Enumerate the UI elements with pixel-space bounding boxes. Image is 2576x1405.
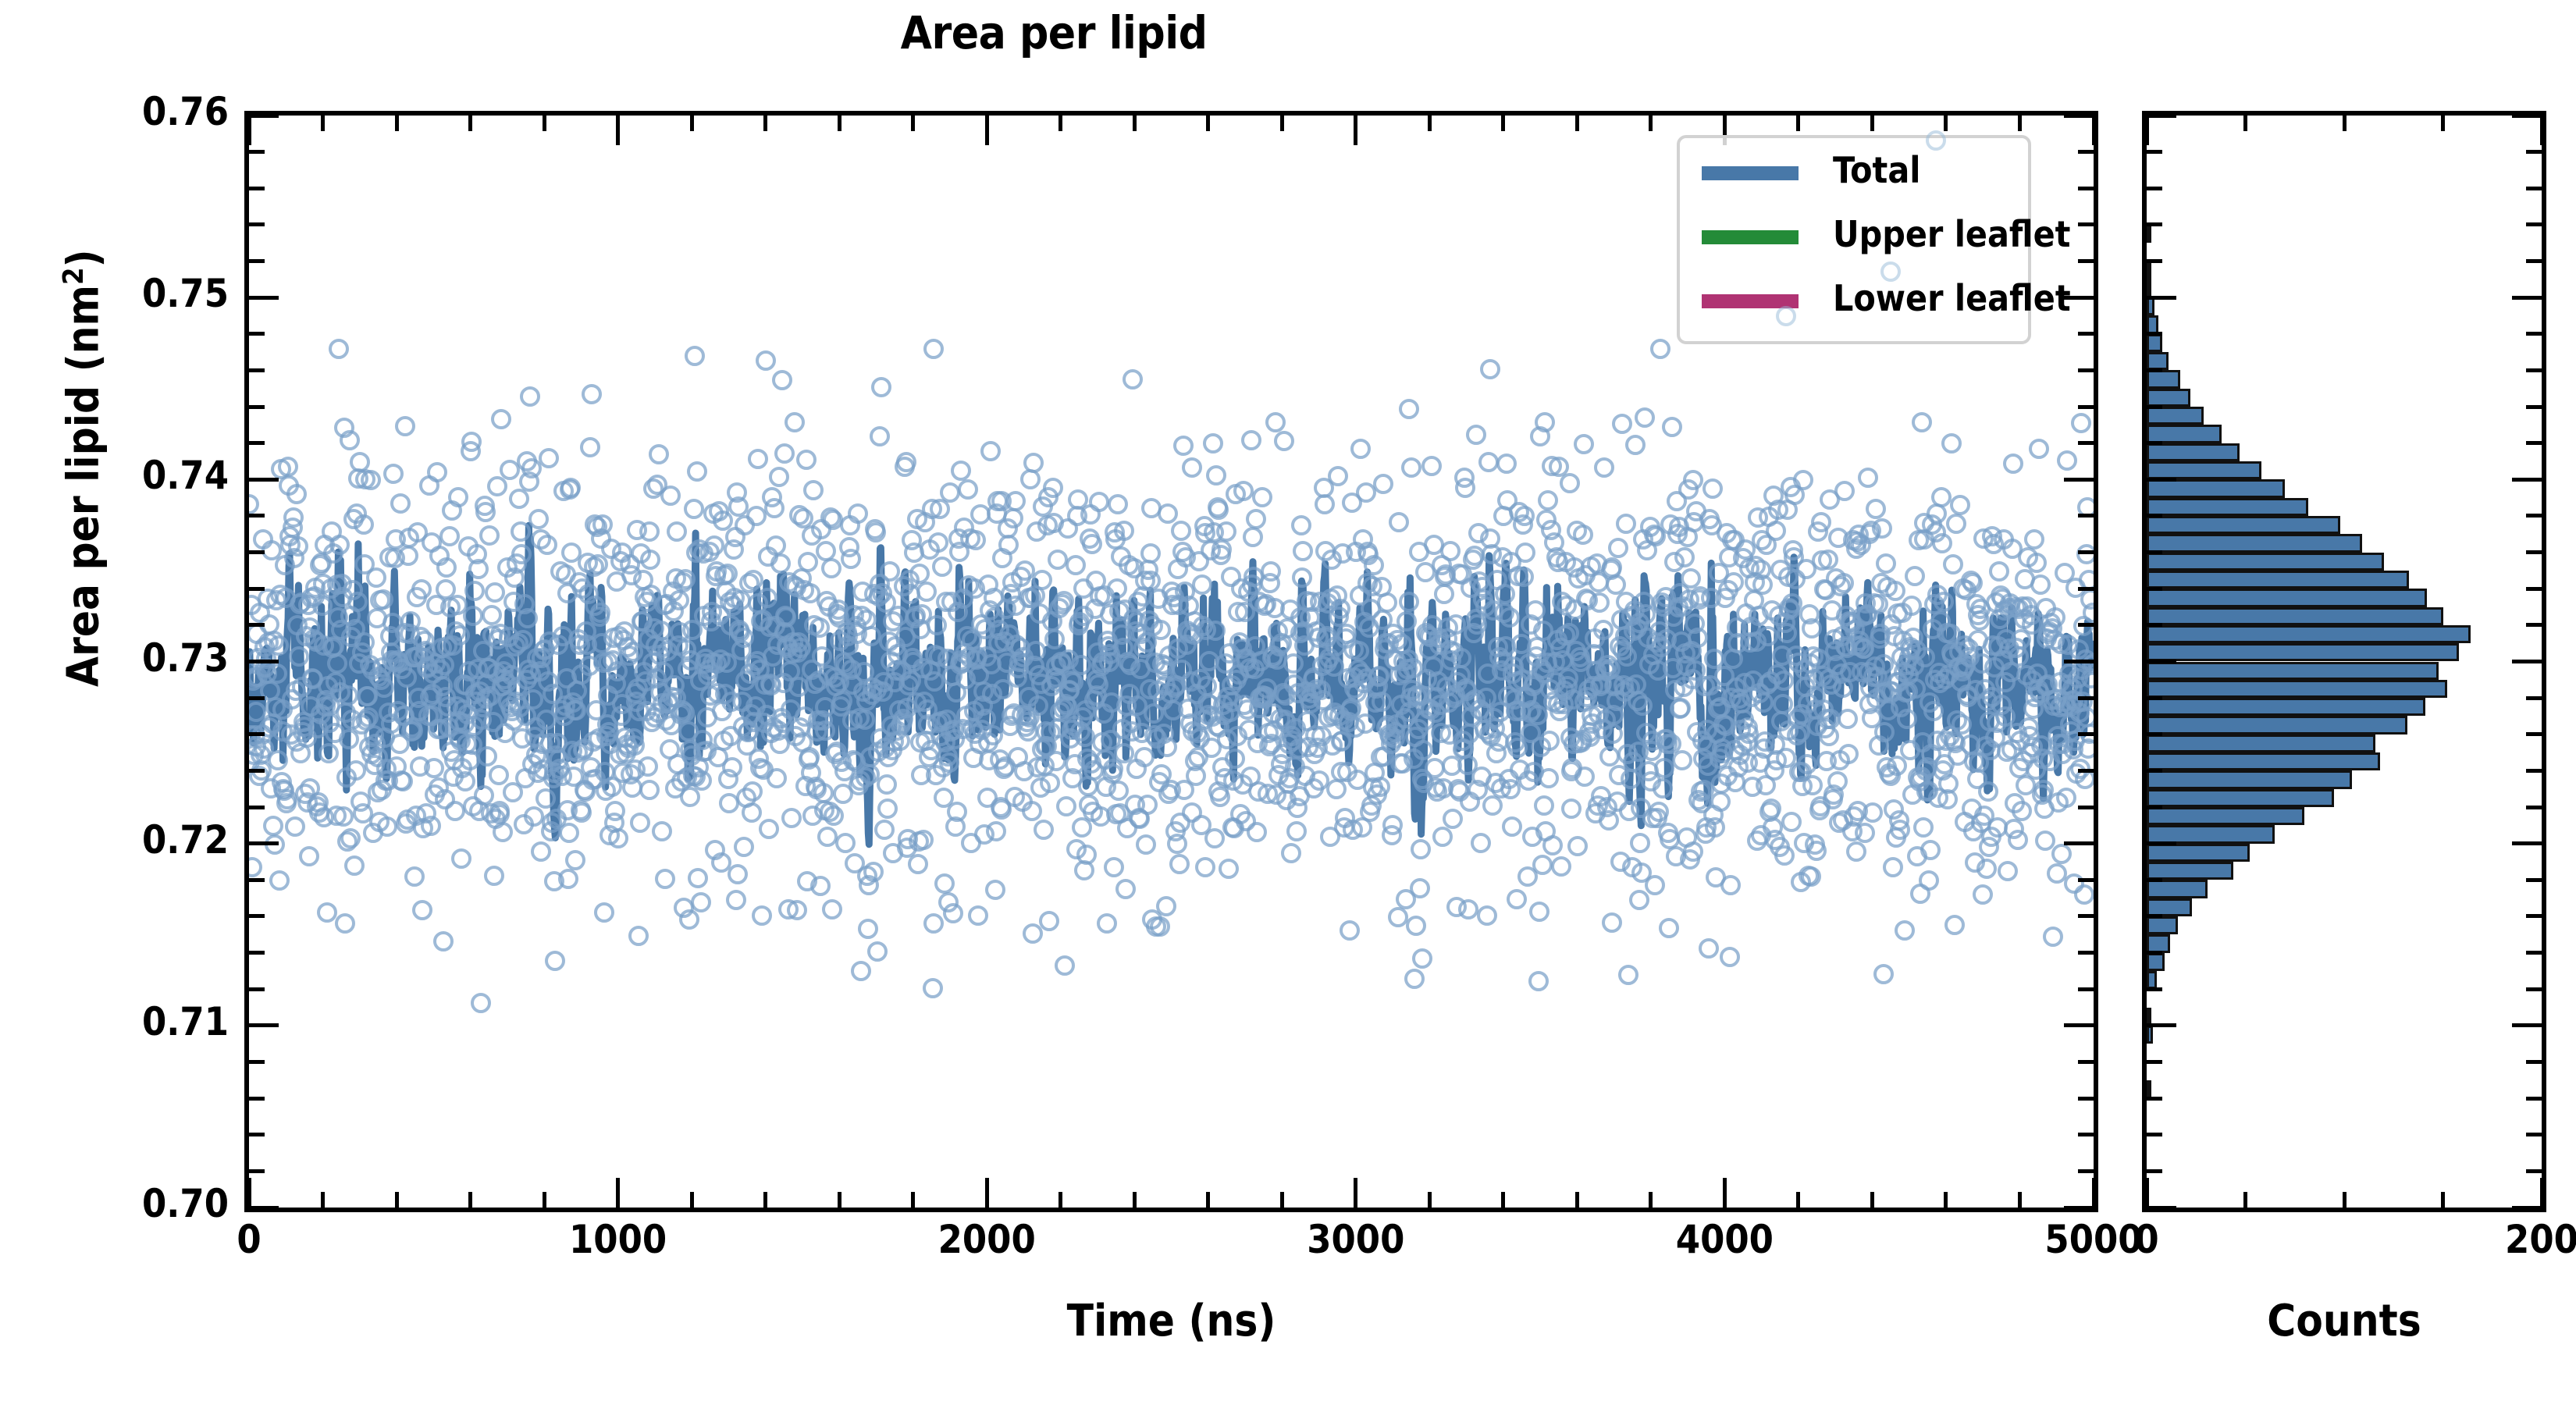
scatter-point (870, 426, 890, 446)
scatter-point (1989, 561, 2009, 582)
counts-major-tick (2145, 1178, 2149, 1208)
scatter-point (1369, 666, 1389, 686)
histogram-bar (2147, 225, 2151, 243)
scatter-point (1192, 574, 1212, 595)
hist-y-minor-tick (2147, 1169, 2162, 1173)
scatter-point (354, 514, 374, 535)
scatter-point (1355, 713, 1375, 734)
scatter-point (1866, 499, 1886, 519)
x-axis-tick-label: 2000 (885, 1217, 1088, 1262)
histogram-bar (2147, 752, 2380, 770)
y-minor-tick (249, 368, 265, 372)
scatter-point (427, 462, 447, 482)
scatter-point (1071, 655, 1091, 675)
hist-y-minor-tick-right (2526, 587, 2542, 591)
counts-axis-title: Counts (2142, 1296, 2546, 1346)
scatter-point (1802, 775, 1823, 795)
hist-y-major-tick (2147, 1206, 2176, 1210)
scatter-point (1003, 508, 1023, 528)
scatter-point (269, 635, 289, 656)
y-minor-tick (249, 951, 265, 955)
y-axis-title-main: Area per lipid (nm (59, 285, 109, 687)
scatter-point (927, 615, 947, 635)
scatter-point (424, 758, 444, 778)
scatter-point (1766, 521, 1786, 541)
y-axis-tick-label: 0.76 (10, 89, 229, 134)
scatter-point (565, 850, 585, 870)
y-minor-tick-right (2078, 259, 2094, 263)
scatter-point (1382, 815, 1403, 835)
x-minor-tick-top (1428, 116, 1432, 131)
y-minor-tick (249, 696, 265, 700)
x-major-tick-top (2092, 116, 2096, 145)
scatter-point (511, 521, 531, 542)
scatter-point (1107, 578, 1127, 599)
scatter-point (285, 816, 305, 837)
y-minor-tick-right (2078, 732, 2094, 736)
legend-item-upper-leaflet[interactable]: Upper leaflet (1702, 213, 2014, 260)
histogram-bar (2147, 770, 2352, 788)
y-major-tick-right (2064, 478, 2094, 482)
scatter-point (1688, 628, 1708, 648)
y-minor-tick (249, 769, 265, 773)
scatter-point (1946, 514, 1966, 534)
scatter-point (909, 564, 930, 584)
scatter-point (667, 521, 687, 542)
scatter-point (571, 802, 592, 823)
legend-swatch-total (1702, 166, 1799, 180)
scatter-point (393, 771, 413, 791)
scatter-point (528, 509, 549, 529)
scatter-point (968, 905, 988, 926)
scatter-point (1599, 746, 1620, 767)
scatter-point (1962, 573, 1983, 593)
legend-item-total[interactable]: Total (1702, 149, 2014, 196)
hist-y-minor-tick-right (2526, 441, 2542, 445)
hist-y-minor-tick (2147, 187, 2162, 190)
x-minor-tick-top (838, 116, 841, 131)
scatter-point (769, 467, 789, 487)
hist-y-minor-tick (2147, 732, 2162, 736)
scatter-point (812, 646, 832, 667)
scatter-point (1477, 905, 1497, 926)
scatter-point (374, 678, 394, 698)
scatter-point (1653, 778, 1673, 799)
y-major-tick (249, 1023, 279, 1027)
scatter-point (1291, 515, 1311, 535)
y-minor-tick-right (2078, 1133, 2094, 1136)
x-minor-tick (321, 1192, 325, 1208)
scatter-point (1247, 822, 1267, 842)
histogram-panel (2142, 111, 2546, 1212)
scatter-point (943, 903, 963, 923)
counts-minor-tick-top (2343, 116, 2347, 131)
scatter-point (1399, 399, 1419, 419)
x-minor-tick (1059, 1192, 1062, 1208)
hist-y-major-tick-right (2512, 296, 2542, 300)
y-minor-tick (249, 587, 265, 591)
legend-label-upper-leaflet: Upper leaflet (1833, 213, 2070, 255)
histogram-bar (2147, 461, 2261, 479)
hist-y-minor-tick (2147, 1097, 2162, 1101)
scatter-point (1710, 791, 1731, 812)
scatter-point (1421, 456, 1442, 476)
hist-y-minor-tick-right (2526, 1060, 2542, 1064)
scatter-point (958, 479, 978, 500)
x-minor-tick (1575, 1192, 1579, 1208)
scatter-point (1315, 494, 1335, 514)
scatter-point (1123, 369, 1143, 389)
histogram-bar (2147, 880, 2208, 898)
scatter-point (691, 892, 711, 912)
scatter-point (1724, 572, 1744, 592)
histogram-bar (2147, 953, 2165, 971)
scatter-point (1876, 553, 1896, 574)
scatter-point (734, 837, 754, 857)
scatter-point (1514, 506, 1535, 526)
hist-y-minor-tick (2147, 222, 2162, 226)
scatter-point (1629, 890, 1649, 910)
scatter-point (680, 787, 700, 807)
scatter-point (468, 559, 489, 579)
scatter-point (377, 816, 397, 837)
scatter-point (605, 801, 625, 821)
scatter-point (1560, 473, 1580, 493)
scatter-point (566, 700, 586, 720)
scatter-point (1608, 538, 1628, 558)
scatter-point (742, 781, 763, 802)
histogram-bar (2147, 297, 2154, 315)
scatter-point (757, 588, 777, 608)
scatter-point (269, 870, 290, 891)
scatter-point (450, 625, 470, 646)
scatter-point (1005, 491, 1026, 511)
y-major-tick-right (2064, 841, 2094, 845)
scatter-point (1919, 870, 1939, 891)
scatter-point (2008, 830, 2028, 850)
histogram-bar (2147, 315, 2158, 333)
y-minor-tick-right (2078, 623, 2094, 627)
histogram-bar (2147, 1080, 2151, 1098)
y-minor-tick-right (2078, 150, 2094, 154)
scatter-point (1703, 478, 1723, 499)
scatter-point (1246, 509, 1266, 529)
hist-y-minor-tick-right (2526, 550, 2542, 554)
y-minor-tick (249, 150, 265, 154)
scatter-point (1952, 714, 1972, 735)
x-minor-tick (1944, 1192, 1948, 1208)
scatter-point (1855, 823, 1875, 843)
x-minor-tick-top (1501, 116, 1505, 131)
scatter-point (1208, 500, 1229, 520)
histogram-bar (2147, 971, 2157, 989)
scatter-point (1776, 306, 1796, 326)
scatter-point (798, 552, 818, 572)
scatter-point (1654, 758, 1674, 778)
histogram-bar (2147, 1008, 2151, 1026)
scatter-point (1206, 465, 1226, 486)
y-minor-tick-right (2078, 1097, 2094, 1101)
y-major-tick-right (2064, 1023, 2094, 1027)
hist-y-major-tick (2147, 296, 2176, 300)
scatter-point (776, 607, 796, 628)
histogram-bar (2147, 607, 2443, 625)
y-major-tick (249, 1206, 279, 1210)
scatter-point (742, 802, 762, 823)
scatter-point (1923, 701, 1944, 721)
x-minor-tick-top (2018, 116, 2022, 131)
scatter-point (743, 570, 763, 590)
y-minor-tick (249, 806, 265, 809)
y-axis-tick-label: 0.75 (10, 271, 229, 316)
scatter-point (1389, 512, 1409, 532)
scatter-point (1558, 668, 1578, 688)
scatter-point (299, 846, 319, 866)
scatter-point (1532, 855, 1553, 875)
scatter-point (1466, 425, 1486, 445)
scatter-point (318, 743, 339, 763)
scatter-point (766, 535, 786, 556)
x-axis-tick-label: 4000 (1623, 1217, 1826, 1262)
scatter-point (1998, 861, 2018, 881)
scatter-point (1330, 599, 1350, 619)
histogram-bar (2147, 498, 2308, 516)
x-minor-tick-top (395, 116, 399, 131)
scatter-point (1872, 518, 1892, 539)
scatter-point (1649, 802, 1669, 822)
scatter-point (1039, 911, 1059, 931)
hist-y-minor-tick-right (2526, 332, 2542, 336)
scatter-point (1108, 781, 1129, 801)
hist-y-minor-tick-right (2526, 732, 2542, 736)
histogram-bar (2147, 625, 2471, 643)
hist-y-major-tick-right (2512, 841, 2542, 845)
scatter-point (874, 820, 895, 840)
scatter-point (338, 685, 358, 706)
y-minor-tick-right (2078, 368, 2094, 372)
scatter-point (1834, 573, 1854, 593)
y-minor-tick (249, 623, 265, 627)
scatter-point (513, 630, 533, 650)
hist-y-minor-tick-right (2526, 368, 2542, 372)
scatter-point (1151, 620, 1171, 640)
histogram-bar (2147, 479, 2285, 497)
scatter-point (1496, 454, 1517, 474)
x-minor-tick (1796, 1192, 1800, 1208)
counts-minor-tick-top (2441, 116, 2445, 131)
scatter-point (835, 833, 856, 853)
histogram-bar (2147, 825, 2275, 843)
scatter-point (2030, 574, 2051, 595)
scatter-point (728, 864, 748, 884)
counts-axis-tick-label: 200 (2440, 1217, 2576, 1262)
scatter-point (1902, 596, 1922, 616)
scatter-point (1046, 751, 1066, 771)
counts-axis-tick-label: 0 (2045, 1217, 2248, 1262)
x-minor-tick (1206, 1192, 1210, 1208)
y-axis-title-close: ) (59, 250, 109, 268)
scatter-point (1495, 584, 1515, 604)
y-minor-tick (249, 187, 265, 190)
scatter-point (772, 370, 792, 390)
scatter-point (404, 866, 425, 887)
hist-y-minor-tick (2147, 951, 2162, 955)
scatter-point (1912, 412, 1932, 432)
scatter-point (934, 873, 955, 894)
y-minor-tick-right (2078, 550, 2094, 554)
scatter-point (687, 461, 707, 482)
scatter-point (1827, 771, 1848, 791)
scatter-point (1104, 857, 1124, 877)
y-minor-tick (249, 514, 265, 518)
y-minor-tick-right (2078, 951, 2094, 955)
hist-y-minor-tick (2147, 1060, 2162, 1064)
x-minor-tick (1133, 1192, 1137, 1208)
scatter-point (1539, 731, 1560, 751)
scatter-point (1846, 841, 1866, 862)
scatter-point (877, 774, 897, 795)
scatter-point (1026, 641, 1046, 661)
y-minor-tick-right (2078, 514, 2094, 518)
scatter-point (1602, 912, 1622, 933)
hist-y-minor-tick-right (2526, 187, 2542, 190)
scatter-point (1411, 839, 1431, 859)
hist-y-minor-tick-right (2526, 806, 2542, 809)
scatter-point (1023, 453, 1044, 473)
scatter-point (1032, 570, 1052, 590)
x-minor-tick-top (1575, 116, 1579, 131)
hist-y-minor-tick-right (2526, 987, 2542, 991)
scatter-point (421, 816, 441, 836)
scatter-point (1286, 821, 1307, 841)
scatter-point (822, 899, 842, 919)
scatter-point (1525, 600, 1546, 621)
hist-y-major-tick (2147, 841, 2176, 845)
scatter-point (2057, 450, 2077, 471)
counts-major-tick-top (2145, 116, 2149, 145)
hist-y-minor-tick (2147, 878, 2162, 882)
x-minor-tick-top (1206, 116, 1210, 131)
scatter-point (1203, 433, 1223, 454)
scatter-point (1777, 623, 1797, 643)
y-minor-tick-right (2078, 1060, 2094, 1064)
scatter-point (781, 808, 802, 828)
scatter-point (796, 450, 817, 470)
scatter-point (1195, 857, 1215, 877)
hist-y-minor-tick-right (2526, 1169, 2542, 1173)
scatter-point (1066, 555, 1086, 575)
histogram-bar (2147, 862, 2233, 880)
y-minor-tick (249, 878, 265, 882)
x-minor-tick (763, 1192, 767, 1208)
hist-y-minor-tick (2147, 587, 2162, 591)
hist-y-minor-tick-right (2526, 951, 2542, 955)
hist-y-minor-tick (2147, 1133, 2162, 1136)
x-minor-tick (543, 1192, 546, 1208)
counts-major-tick (2540, 1178, 2544, 1208)
x-minor-tick-top (763, 116, 767, 131)
x-minor-tick-top (1649, 116, 1653, 131)
x-major-tick-top (247, 116, 251, 145)
x-minor-tick-top (543, 116, 546, 131)
histogram-bar (2147, 516, 2340, 534)
legend[interactable]: Total Upper leaflet Lower leaflet (1677, 135, 2031, 344)
scatter-point (461, 432, 482, 452)
scatter-point (1873, 964, 1894, 984)
scatter-point (1167, 834, 1187, 854)
scatter-point (1500, 607, 1520, 628)
histogram-bar (2147, 789, 2334, 807)
scatter-point (1720, 875, 1741, 895)
histogram-bar (2147, 680, 2447, 698)
scatter-point (951, 461, 971, 481)
hist-y-major-tick (2147, 1023, 2176, 1027)
y-axis-title-exponent: 2 (58, 268, 90, 286)
hist-y-minor-tick (2147, 259, 2162, 263)
hist-y-major-tick-right (2512, 660, 2542, 663)
hist-y-minor-tick (2147, 150, 2162, 154)
scatter-point (475, 502, 496, 522)
x-minor-tick-top (690, 116, 694, 131)
scatter-point (1761, 799, 1781, 819)
scatter-point (1973, 884, 1993, 905)
x-minor-tick (395, 1192, 399, 1208)
scatter-point (752, 905, 772, 926)
scatter-point (1054, 591, 1074, 611)
scatter-point (649, 444, 669, 464)
scatter-point (791, 638, 811, 658)
x-minor-tick (1428, 1192, 1432, 1208)
y-minor-tick-right (2078, 332, 2094, 336)
scatter-point (923, 339, 944, 359)
scatter-point (582, 384, 602, 404)
scatter-point (263, 816, 283, 836)
scatter-point (1241, 430, 1261, 450)
scatter-point (1599, 810, 1619, 831)
scatter-point (1593, 620, 1614, 640)
hist-y-major-tick-right (2512, 1023, 2542, 1027)
scatter-point (628, 926, 649, 946)
scatter-point (1950, 495, 1970, 515)
histogram-bar (2147, 662, 2439, 680)
hist-y-minor-tick (2147, 623, 2162, 627)
scatter-point (1662, 417, 1682, 437)
hist-y-minor-tick-right (2526, 150, 2542, 154)
scatter-point (866, 522, 886, 542)
hist-y-minor-tick (2147, 769, 2162, 773)
y-axis-tick-label: 0.70 (10, 1181, 229, 1226)
x-major-tick (247, 1178, 251, 1208)
scatter-point (1574, 767, 1595, 787)
scatter-point (1140, 543, 1161, 564)
scatter-point (403, 720, 423, 741)
scatter-point (1219, 859, 1239, 879)
x-minor-tick (838, 1192, 841, 1208)
scatter-point (390, 493, 411, 514)
scatter-point (268, 750, 288, 770)
scatter-point (1137, 795, 1158, 815)
histogram-bar (2147, 916, 2178, 934)
scatter-point (1890, 820, 1910, 840)
scatter-point (675, 569, 696, 589)
legend-item-lower-leaflet[interactable]: Lower leaflet (1702, 277, 2014, 324)
x-major-tick-top (1354, 116, 1357, 145)
scatter-point (746, 506, 767, 526)
scatter-point (759, 819, 779, 839)
scatter-point (1404, 969, 1425, 989)
histogram-bar (2147, 934, 2170, 952)
histogram-bar (2147, 279, 2151, 297)
